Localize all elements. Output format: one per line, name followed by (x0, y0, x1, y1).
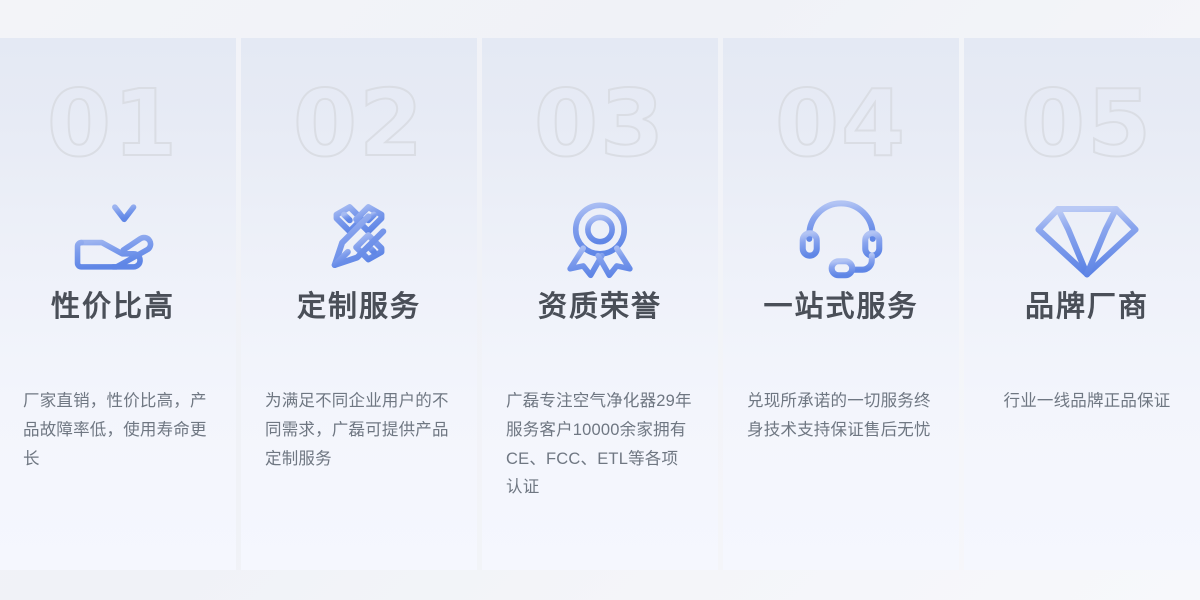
card-title-5: 品牌厂商 (1025, 290, 1149, 325)
card-desc-5: 行业一线品牌正品保证 (993, 387, 1181, 416)
pen-customize-icon (303, 194, 415, 280)
card-desc-1: 厂家直销，性价比高，产品故障率低，使用寿命更长 (23, 387, 211, 474)
card-title-4: 一站式服务 (763, 290, 918, 325)
feature-card-3[interactable]: 03 资质荣誉 广磊专注空气净化器29年服务客户100 (482, 38, 718, 570)
award-medal-icon (544, 194, 656, 280)
card-title-1: 性价比高 (51, 290, 175, 325)
card-number-01: 01 (47, 74, 179, 174)
card-number-02: 02 (293, 74, 425, 174)
card-desc-4: 兑现所承诺的一切服务终身技术支持保证售后无忧 (747, 387, 935, 445)
card-title-2: 定制服务 (297, 290, 421, 325)
card-number-05: 05 (1021, 74, 1153, 174)
headset-support-icon (785, 194, 897, 280)
diamond-gem-icon (1031, 194, 1143, 280)
feature-cards-row: 01 (0, 0, 1200, 600)
hand-money-yuan-icon (57, 194, 169, 280)
feature-card-5[interactable]: 05 品牌厂商 行业一线品牌正品保证 (964, 38, 1200, 570)
feature-card-1[interactable]: 01 (0, 38, 236, 570)
feature-card-2[interactable]: 02 (241, 38, 477, 570)
card-number-03: 03 (534, 74, 666, 174)
card-desc-3: 广磊专注空气净化器29年服务客户10000余家拥有CE、FCC、ETL等各项认证 (506, 387, 694, 503)
card-title-3: 资质荣誉 (538, 290, 662, 325)
feature-card-4[interactable]: 04 一站式服务 (723, 38, 959, 570)
card-desc-2: 为满足不同企业用户的不同需求，广磊可提供产品定制服务 (265, 387, 453, 474)
card-number-04: 04 (775, 74, 907, 174)
